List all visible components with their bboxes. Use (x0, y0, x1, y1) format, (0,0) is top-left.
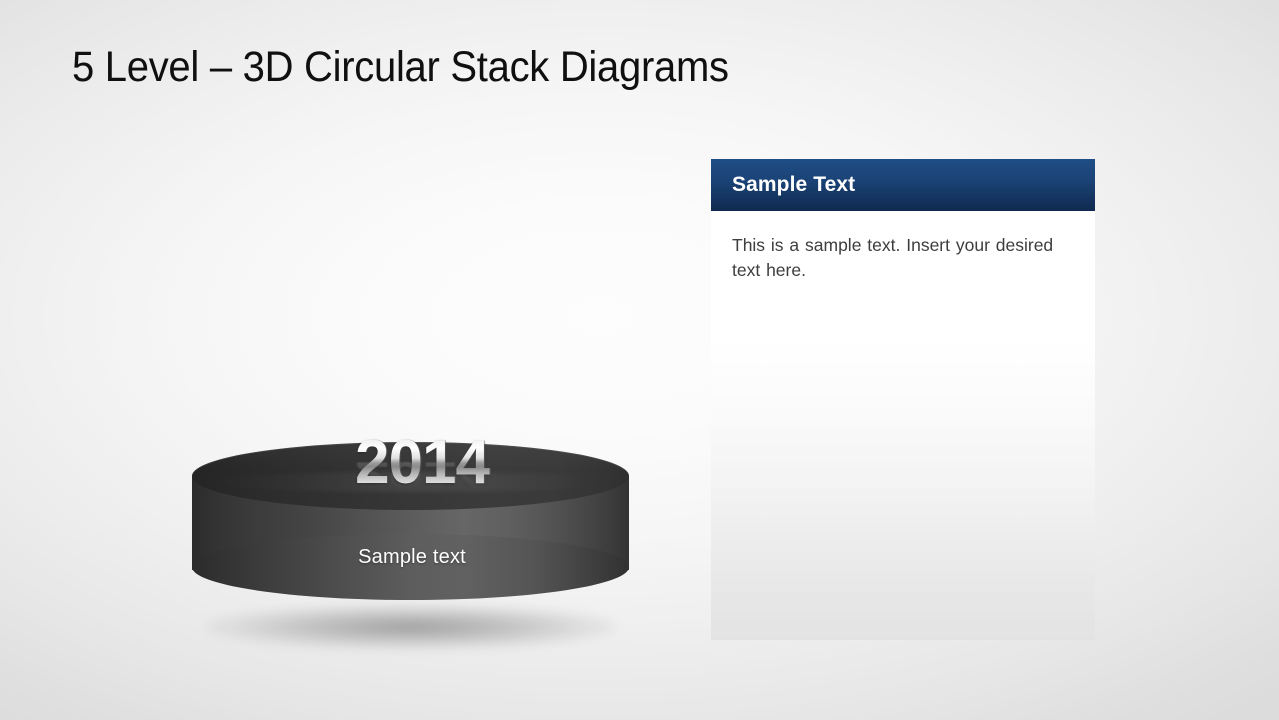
circular-stack-diagram[interactable]: 2014 2014 Sample text (186, 432, 646, 652)
sample-text-panel[interactable]: Sample Text This is a sample text. Inser… (711, 159, 1095, 640)
disc-year-block: 2014 2014 (332, 432, 512, 552)
panel-header: Sample Text (711, 159, 1095, 211)
page-title: 5 Level – 3D Circular Stack Diagrams (72, 38, 909, 96)
panel-body-text: This is a sample text. Insert your desir… (732, 233, 1062, 283)
panel-body[interactable]: This is a sample text. Insert your desir… (711, 211, 1095, 640)
panel-header-title: Sample Text (732, 171, 855, 199)
stack-level-disc[interactable]: 2014 2014 Sample text (192, 452, 629, 600)
slide-canvas: 5 Level – 3D Circular Stack Diagrams Sam… (0, 0, 1279, 720)
diagram-drop-shadow (206, 604, 616, 650)
disc-side-label: Sample text (252, 544, 572, 570)
disc-year-label: 2014 (332, 432, 512, 494)
